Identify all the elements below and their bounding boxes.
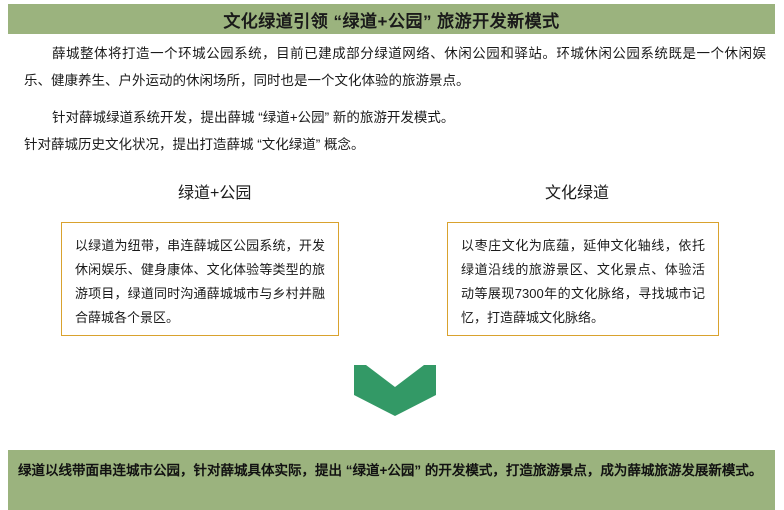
textbox-greenway-park-text: 以绿道为纽带，串连薛城区公园系统，开发休闲娱乐、健身康体、文化体验等类型的旅游项… [75,234,325,330]
paragraph-block-2: 针对薛城绿道系统开发，提出薛城 “绿道+公园” 新的旅游开发模式。 针对薛城历史… [24,104,766,158]
textbox-cultural-greenway-text: 以枣庄文化为底蕴，延伸文化轴线，依托绿道沿线的旅游景区、文化景点、体验活动等展现… [461,234,705,330]
title-banner: 文化绿道引领 “绿道+公园” 旅游开发新模式 [8,4,775,34]
column-heading-cultural-greenway: 文化绿道 [545,179,609,203]
paragraph-2-line-1: 针对薛城绿道系统开发，提出薛城 “绿道+公园” 新的旅游开发模式。 [24,104,766,131]
paragraph-block-1: 薛城整体将打造一个环城公园系统，目前已建成部分绿道网络、休闲公园和驿站。环城休闲… [24,40,766,94]
conclusion-banner: 绿道以线带面串连城市公园，针对薛城具体实际，提出 “绿道+公园” 的开发模式，打… [8,450,775,510]
paragraph-2-line-2: 针对薛城历史文化状况，提出打造薛城 “文化绿道” 概念。 [24,131,766,158]
textbox-greenway-park: 以绿道为纽带，串连薛城区公园系统，开发休闲娱乐、健身康体、文化体验等类型的旅游项… [61,222,339,336]
conclusion-text: 绿道以线带面串连城市公园，针对薛城具体实际，提出 “绿道+公园” 的开发模式，打… [18,458,765,484]
paragraph-1: 薛城整体将打造一个环城公园系统，目前已建成部分绿道网络、休闲公园和驿站。环城休闲… [24,40,766,94]
slide-canvas: 文化绿道引领 “绿道+公园” 旅游开发新模式 薛城整体将打造一个环城公园系统，目… [0,0,784,510]
page-title: 文化绿道引领 “绿道+公园” 旅游开发新模式 [223,7,559,32]
column-heading-greenway-park: 绿道+公园 [178,179,251,203]
down-chevron-icon [354,365,436,416]
textbox-cultural-greenway: 以枣庄文化为底蕴，延伸文化轴线，依托绿道沿线的旅游景区、文化景点、体验活动等展现… [447,222,719,336]
